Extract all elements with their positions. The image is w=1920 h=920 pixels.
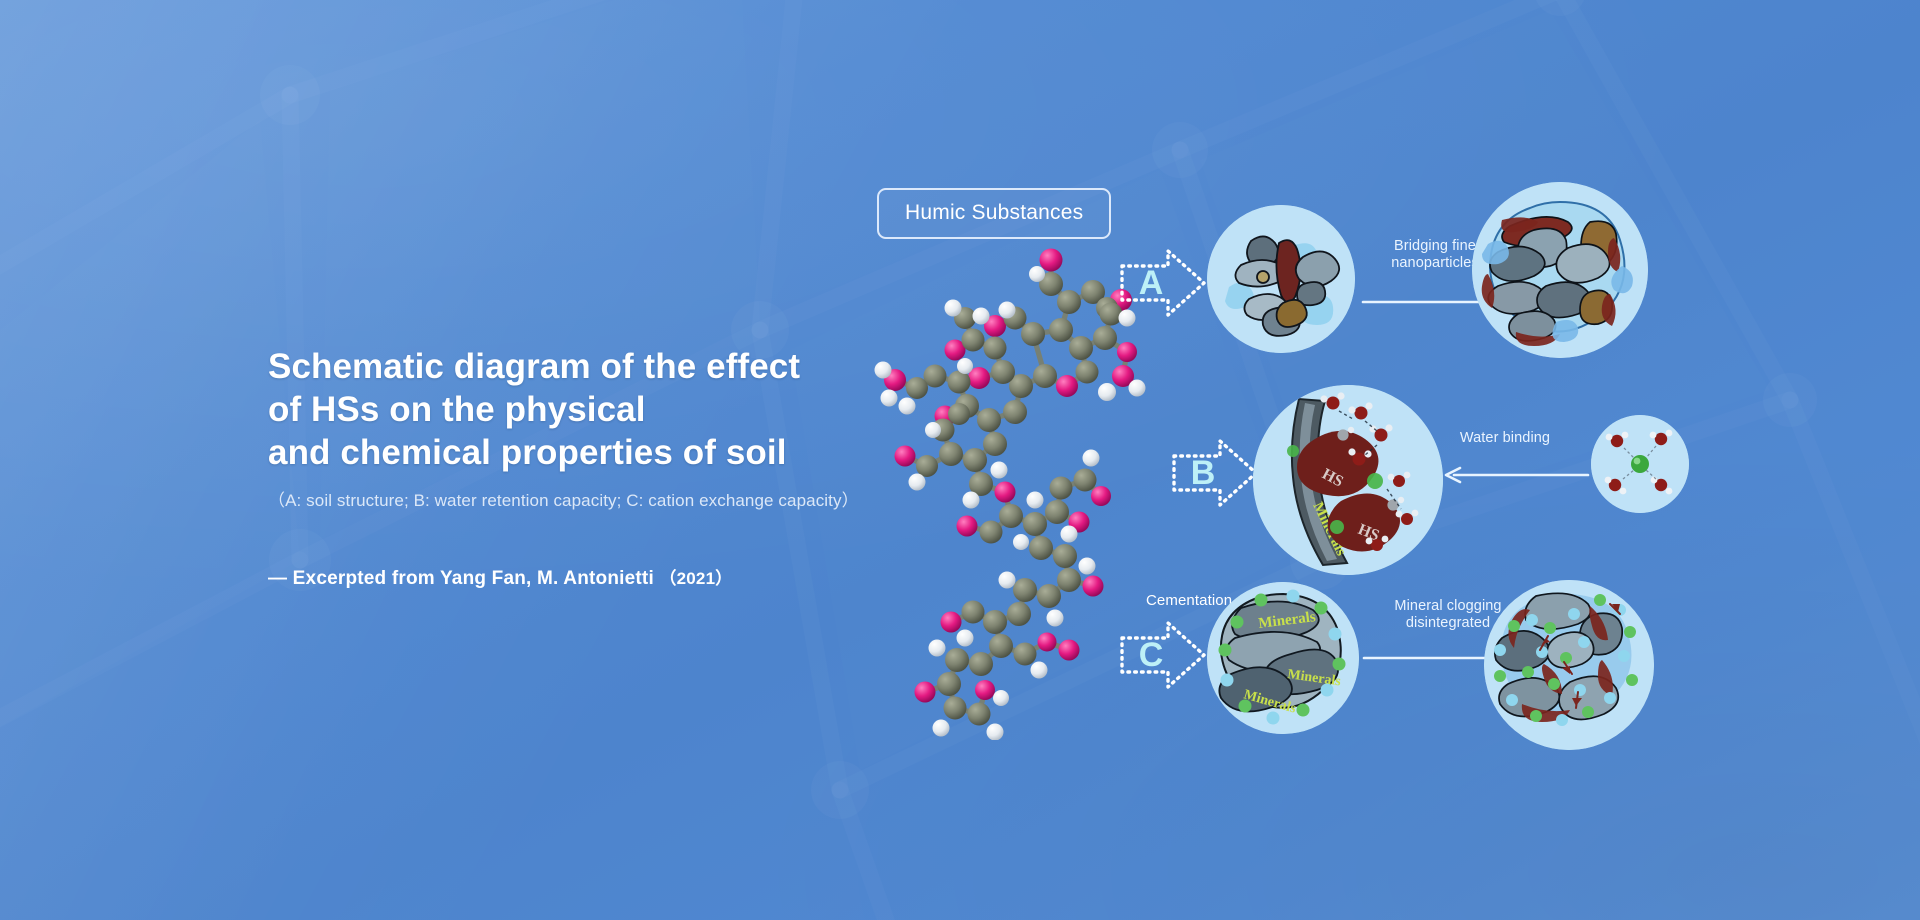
flow-arrow-b-left — [1440, 465, 1590, 485]
disc-b-after — [1591, 415, 1689, 513]
page-title: Schematic diagram of the effect of HSs o… — [268, 345, 908, 474]
title-line-2: of HSs on the physical — [268, 388, 908, 431]
attribution-text: — Excerpted from Yang Fan, M. Antonietti — [268, 568, 654, 589]
left-label-c: Cementation — [1146, 592, 1232, 609]
title-line-3: and chemical properties of soil — [268, 431, 908, 474]
disc-a-after — [1472, 182, 1648, 358]
poster-canvas: Schematic diagram of the effect of HSs o… — [0, 0, 1920, 920]
step-letter-b: B — [1172, 438, 1234, 508]
disc-c-after — [1484, 580, 1654, 750]
transition-label-b: Water binding — [1440, 430, 1570, 447]
step-letter-a-wrap: A — [1120, 248, 1206, 318]
disc-a-before — [1207, 205, 1355, 353]
step-letter-b-wrap: B — [1172, 438, 1258, 508]
attribution-year: （2021） — [659, 569, 732, 588]
attribution: — Excerpted from Yang Fan, M. Antonietti… — [268, 564, 908, 590]
subtitle-legend: （A: soil structure; B: water retention c… — [268, 490, 908, 512]
step-letter-c-wrap: C — [1120, 620, 1206, 690]
headline-block: Schematic diagram of the effect of HSs o… — [268, 345, 908, 590]
disc-b-before: Minerals HS HS — [1253, 385, 1443, 575]
step-letter-c: C — [1120, 620, 1182, 690]
step-letter-a: A — [1120, 248, 1182, 318]
badge-label: Humic Substances — [905, 201, 1083, 224]
transition-label-b-line1: Water binding — [1440, 430, 1570, 447]
title-line-1: Schematic diagram of the effect — [268, 345, 908, 388]
disc-c-before: Minerals Minerals Minerals — [1207, 582, 1359, 734]
